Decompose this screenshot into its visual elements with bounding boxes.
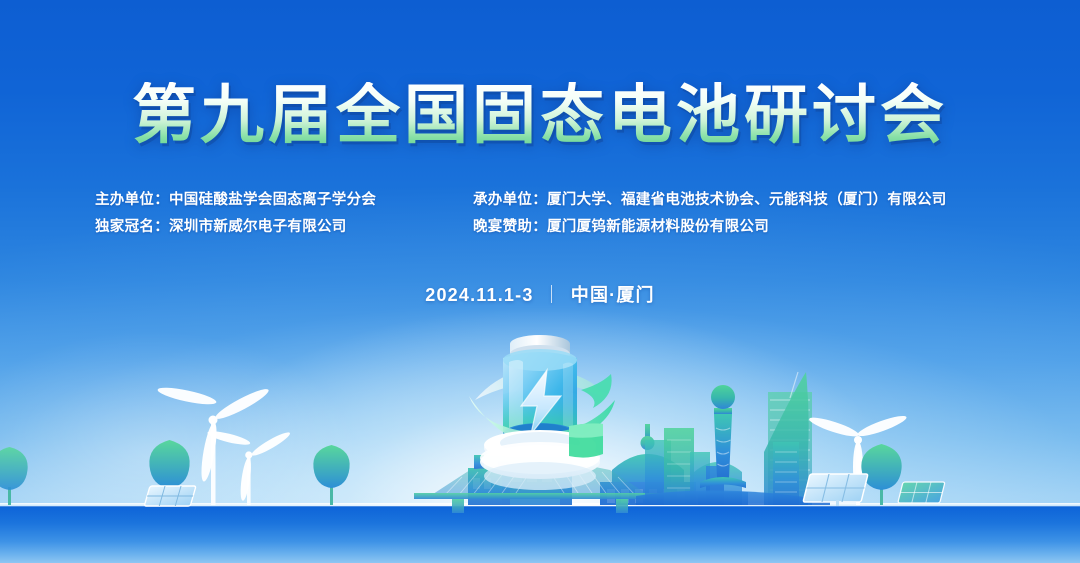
page-title-wrap: 第九届全国固态电池研讨会 <box>0 82 1080 149</box>
organizer-title-sponsor-line: 独家冠名：深圳市新威尔电子有限公司 <box>95 215 445 236</box>
organizer-column-left: 主办单位：中国硅酸盐学会固态离子学分会 独家冠名：深圳市新威尔电子有限公司 <box>95 188 445 236</box>
conference-banner: 第九届全国固态电池研讨会 主办单位：中国硅酸盐学会固态离子学分会 独家冠名：深圳… <box>0 0 1080 563</box>
water-band <box>0 506 1080 563</box>
right-building-cluster <box>636 372 830 505</box>
organizer-block: 主办单位：中国硅酸盐学会固态离子学分会 独家冠名：深圳市新威尔电子有限公司 承办… <box>0 188 1080 236</box>
organizer-column-right: 承办单位：厦门大学、福建省电池技术协会、元能科技（厦门）有限公司 晚宴赞助：厦门… <box>473 188 985 236</box>
shoreline <box>0 503 1080 507</box>
solar-panel-icon <box>898 482 945 503</box>
organizer-coorganizer-line: 承办单位：厦门大学、福建省电池技术协会、元能科技（厦门）有限公司 <box>473 188 985 209</box>
battery-lightning-icon <box>445 322 635 502</box>
tree-icon <box>861 444 901 505</box>
organizer-dinner-sponsor-line: 晚宴赞助：厦门厦钨新能源材料股份有限公司 <box>473 215 985 236</box>
organizer-host-line: 主办单位：中国硅酸盐学会固态离子学分会 <box>95 188 445 209</box>
event-location: 中国·厦门 <box>571 285 655 305</box>
wind-turbine-icon <box>808 412 908 505</box>
date-location-row: 2024.11.1-3｜中国·厦门 <box>0 281 1080 307</box>
event-date: 2024.11.1-3 <box>425 285 533 305</box>
page-title: 第九届全国固态电池研讨会 <box>132 82 948 149</box>
solar-panel-icon <box>803 474 868 506</box>
date-separator: ｜ <box>543 281 562 307</box>
